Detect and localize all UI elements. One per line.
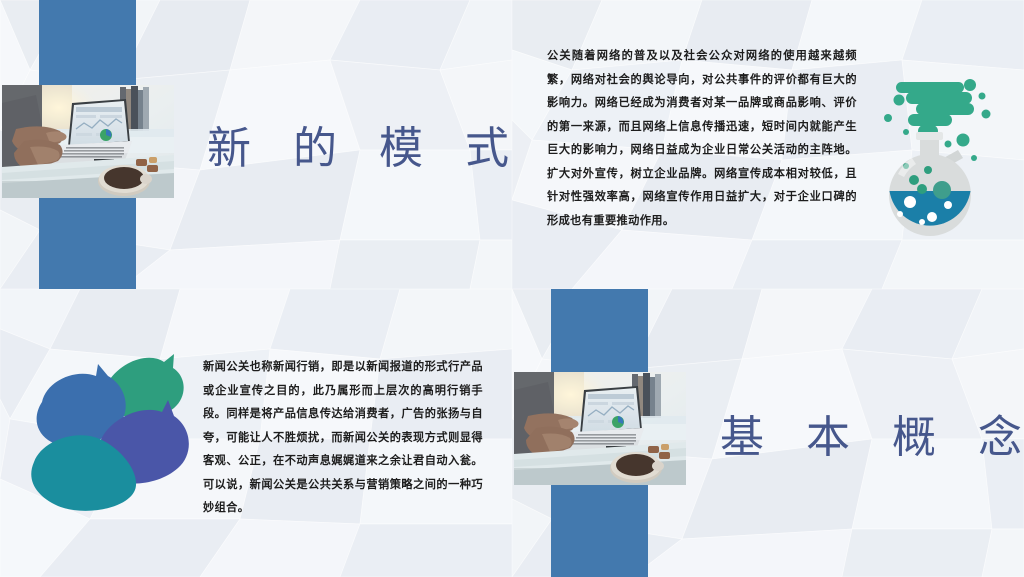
slide-thumbnail-new-model[interactable]: 新 的 模 式: [0, 0, 512, 289]
slide-body-paragraph: 新闻公关也称新闻行销，即是以新闻报道的形式行产品或企业宣传之目的，此乃属形而上层…: [203, 355, 483, 520]
slide-title-new-model: 新 的 模 式: [207, 112, 512, 176]
laptop-workspace-photo: [514, 372, 686, 485]
slide-thumbnail-basic-concept[interactable]: 基 本 概 念: [512, 289, 1024, 577]
slide-deck-grid: 新 的 模 式: [0, 0, 1024, 577]
slide-thumbnail-network-pr[interactable]: 公关随着网络的普及以及社会公众对网络的使用越来越频繁，网络对社会的舆论导向，对公…: [512, 0, 1024, 289]
slide-body-paragraph: 公关随着网络的普及以及社会公众对网络的使用越来越频繁，网络对社会的舆论导向，对公…: [547, 44, 857, 232]
slide-thumbnail-press-pr[interactable]: 新闻公关也称新闻行销，即是以新闻报道的形式行产品或企业宣传之目的，此乃属形而上层…: [0, 289, 512, 577]
four-birds-icon: [22, 338, 200, 516]
laptop-workspace-photo: [2, 85, 174, 198]
flask-with-green-vapor-icon: [870, 62, 1020, 240]
slide-title-basic-concept: 基 本 概 念: [720, 401, 1024, 465]
